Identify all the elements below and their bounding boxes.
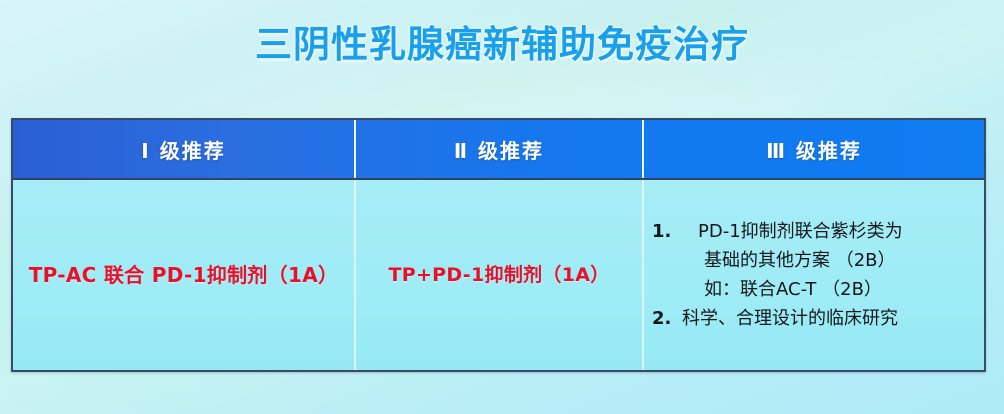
page-title: 三阴性乳腺癌新辅助免疫治疗 <box>0 14 1004 68</box>
column-header-level-1: Ⅰ 级推荐 <box>13 120 354 178</box>
list-item-line: 科学、合理设计的临床研究 <box>682 304 978 333</box>
table-body-row: TP-AC 联合 PD-1抑制剂（1A） TP+PD-1抑制剂（1A） 1. P… <box>13 180 984 370</box>
column-header-level-3: Ⅲ 级推荐 <box>642 120 984 178</box>
cell-level-1: TP-AC 联合 PD-1抑制剂（1A） <box>13 180 354 370</box>
list-item: 1. PD-1抑制剂联合紫杉类为 基础的其他方案 （2B） 如：联合AC-T （… <box>652 217 978 304</box>
table-header-row: Ⅰ 级推荐 Ⅱ 级推荐 Ⅲ 级推荐 <box>13 120 984 180</box>
level-3-recommendation-list: 1. PD-1抑制剂联合紫杉类为 基础的其他方案 （2B） 如：联合AC-T （… <box>644 213 984 338</box>
list-item-marker: 1. <box>652 217 682 246</box>
cell-level-3: 1. PD-1抑制剂联合紫杉类为 基础的其他方案 （2B） 如：联合AC-T （… <box>642 180 984 370</box>
list-item-body: 科学、合理设计的临床研究 <box>682 304 978 333</box>
cell-level-2: TP+PD-1抑制剂（1A） <box>354 180 642 370</box>
list-item-line: 基础的其他方案 （2B） <box>682 246 978 275</box>
column-header-level-2: Ⅱ 级推荐 <box>354 120 642 178</box>
list-item-marker: 2. <box>652 304 682 333</box>
list-item: 2. 科学、合理设计的临床研究 <box>652 304 978 333</box>
recommendation-table: Ⅰ 级推荐 Ⅱ 级推荐 Ⅲ 级推荐 TP-AC 联合 PD-1抑制剂（1A） T… <box>11 118 986 372</box>
list-item-line: PD-1抑制剂联合紫杉类为 <box>682 217 978 246</box>
level-2-recommendation-text: TP+PD-1抑制剂（1A） <box>388 263 609 288</box>
list-item-line: 如：联合AC-T （2B） <box>682 275 978 304</box>
level-1-recommendation-text: TP-AC 联合 PD-1抑制剂（1A） <box>29 262 339 288</box>
list-item-body: PD-1抑制剂联合紫杉类为 基础的其他方案 （2B） 如：联合AC-T （2B） <box>682 217 978 304</box>
